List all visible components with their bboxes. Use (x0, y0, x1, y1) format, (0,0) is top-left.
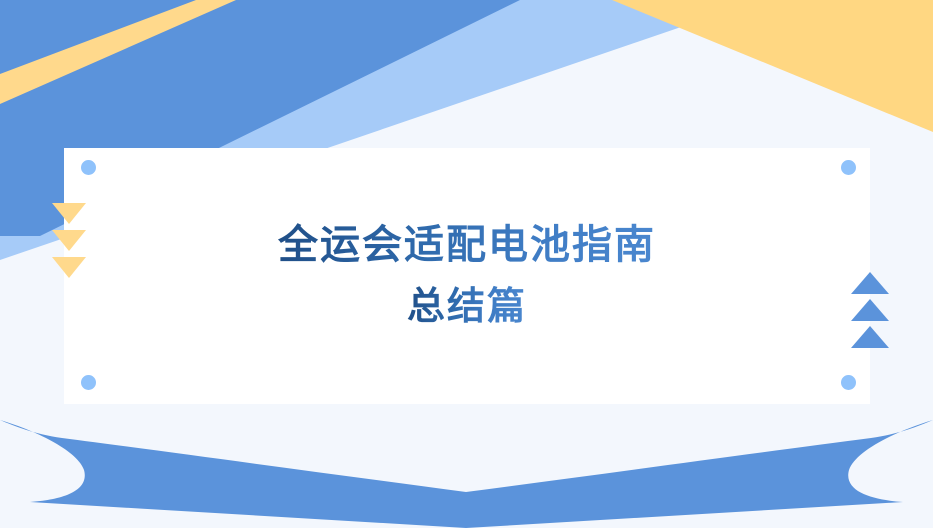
down-triangle-icon (52, 230, 86, 251)
content-card (64, 148, 870, 404)
card-dot-top-right (841, 160, 856, 175)
right-triangle-marks (851, 272, 889, 348)
card-dot-bottom-right (841, 375, 856, 390)
up-triangle-icon (851, 299, 889, 321)
left-triangle-marks (52, 203, 86, 278)
card-dot-top-left (81, 160, 96, 175)
up-triangle-icon (851, 272, 889, 294)
slide-canvas: 全运会适配电池指南 总结篇 (0, 0, 933, 528)
down-triangle-icon (52, 203, 86, 224)
card-dot-bottom-left (81, 375, 96, 390)
up-triangle-icon (851, 326, 889, 348)
down-triangle-icon (52, 257, 86, 278)
